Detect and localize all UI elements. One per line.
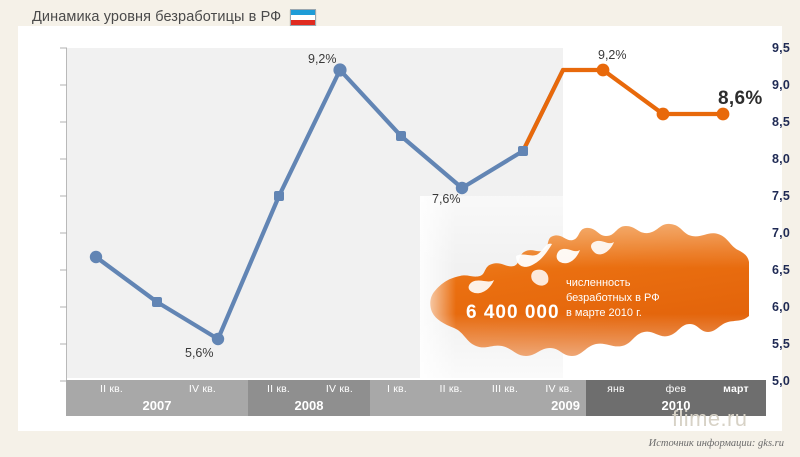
source-note: Источник информации: gks.ru bbox=[649, 438, 784, 449]
y-tick-label: 5,5 bbox=[772, 337, 790, 351]
y-tick-label: 8,0 bbox=[772, 152, 790, 166]
y-tick-label: 5,0 bbox=[772, 374, 790, 388]
page-title: Динамика уровня безработицы в РФ bbox=[32, 9, 281, 25]
y-axis-line bbox=[66, 48, 67, 380]
x-group-year: 2007 bbox=[66, 397, 248, 414]
label-trough-blue: 7,6% bbox=[432, 192, 461, 206]
y-tick-label: 6,0 bbox=[772, 300, 790, 314]
x-group-2008: II кв. IV кв. 2008 bbox=[248, 380, 370, 416]
caption-line-2: безработных в РФ bbox=[566, 291, 660, 306]
caption-line-1: численность bbox=[566, 276, 660, 291]
unemployed-caption: численность безработных в РФ в марте 201… bbox=[566, 276, 660, 321]
x-axis: II кв. IV кв. 2007 II кв. IV кв. 2008 I … bbox=[66, 380, 766, 416]
label-peak-orange: 9,2% bbox=[598, 48, 627, 62]
x-group-year: 2008 bbox=[248, 397, 370, 414]
unemployed-count: 6 400 000 bbox=[466, 302, 560, 324]
x-tick-label: IV кв. bbox=[157, 383, 248, 395]
x-group-2007: II кв. IV кв. 2007 bbox=[66, 380, 248, 416]
x-tick-label: март bbox=[706, 383, 766, 395]
x-group-2009: I кв. II кв. III кв. IV кв. 2009 bbox=[370, 380, 586, 416]
x-tick-label: IV кв. bbox=[532, 383, 586, 395]
x-tick-label: янв bbox=[586, 383, 646, 395]
x-tick-label: III кв. bbox=[478, 383, 532, 395]
infographic-root: Динамика уровня безработицы в РФ 9,5 9,0… bbox=[0, 0, 800, 457]
x-tick-label: I кв. bbox=[370, 383, 424, 395]
y-tick-label: 7,0 bbox=[772, 226, 790, 240]
x-group-year: 2009 bbox=[370, 397, 586, 414]
x-tick-label: II кв. bbox=[424, 383, 478, 395]
y-tick-label: 9,5 bbox=[772, 41, 790, 55]
label-peak-blue: 9,2% bbox=[308, 52, 337, 66]
y-tick-label: 9,0 bbox=[772, 78, 790, 92]
y-tick-label: 6,5 bbox=[772, 263, 790, 277]
caption-line-3: в марте 2010 г. bbox=[566, 306, 660, 321]
x-tick-label: фев bbox=[646, 383, 706, 395]
label-last-orange: 8,6% bbox=[718, 88, 763, 110]
russia-flag-icon bbox=[290, 9, 316, 26]
x-tick-label: II кв. bbox=[248, 383, 309, 395]
y-tick-label: 8,5 bbox=[772, 115, 790, 129]
label-min-blue: 5,6% bbox=[185, 346, 214, 360]
x-tick-label: II кв. bbox=[66, 383, 157, 395]
x-tick-label: IV кв. bbox=[309, 383, 370, 395]
y-tick-label: 7,5 bbox=[772, 189, 790, 203]
watermark: flime.ru bbox=[672, 406, 747, 432]
